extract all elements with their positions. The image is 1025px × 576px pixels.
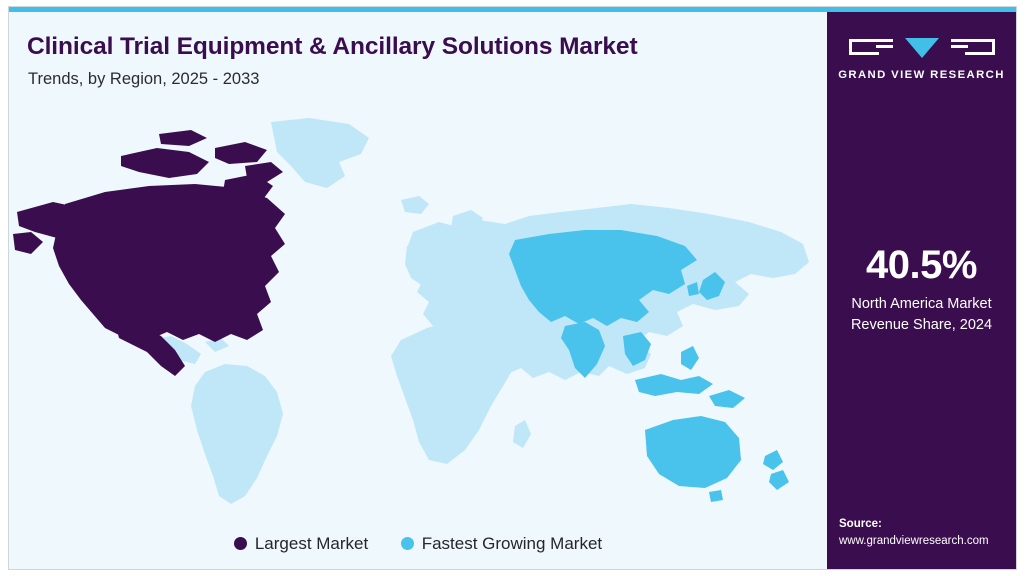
world-map-svg: [9, 104, 827, 514]
infographic-card: Clinical Trial Equipment & Ancillary Sol…: [0, 0, 1025, 576]
legend-label-largest-market: Largest Market: [255, 534, 368, 553]
stat-label-line-2: Revenue Share, 2024: [827, 315, 1016, 336]
stat-label: North America Market Revenue Share, 2024: [827, 294, 1016, 336]
page-title: Clinical Trial Equipment & Ancillary Sol…: [27, 33, 638, 61]
legend-swatch-fastest-growing-market: [401, 537, 414, 550]
source-block: Source: www.grandviewresearch.com: [839, 516, 1017, 551]
card-frame: Clinical Trial Equipment & Ancillary Sol…: [8, 6, 1017, 570]
stat-block: 40.5% North America Market Revenue Share…: [827, 244, 1016, 336]
legend-item-largest-market: Largest Market: [234, 534, 368, 554]
world-map: [9, 104, 827, 514]
page-subtitle: Trends, by Region, 2025 - 2033: [28, 70, 259, 89]
source-title: Source:: [839, 516, 1017, 533]
legend-item-fastest-growing-market: Fastest Growing Market: [401, 534, 602, 554]
grand-view-research-logo-icon: [847, 34, 997, 64]
stats-panel: GRAND VIEW RESEARCH 40.5% North America …: [827, 12, 1016, 570]
legend: Largest Market Fastest Growing Market: [9, 534, 827, 554]
legend-swatch-largest-market: [234, 537, 247, 550]
stat-label-line-1: North America Market: [827, 294, 1016, 315]
brand-logo: GRAND VIEW RESEARCH: [827, 34, 1016, 81]
source-url[interactable]: www.grandviewresearch.com: [839, 533, 1017, 550]
brand-logo-text: GRAND VIEW RESEARCH: [827, 69, 1016, 81]
map-region-north-america: [13, 130, 285, 376]
legend-label-fastest-growing-market: Fastest Growing Market: [422, 534, 602, 553]
map-panel: Clinical Trial Equipment & Ancillary Sol…: [9, 12, 827, 570]
stat-value: 40.5%: [827, 244, 1016, 286]
